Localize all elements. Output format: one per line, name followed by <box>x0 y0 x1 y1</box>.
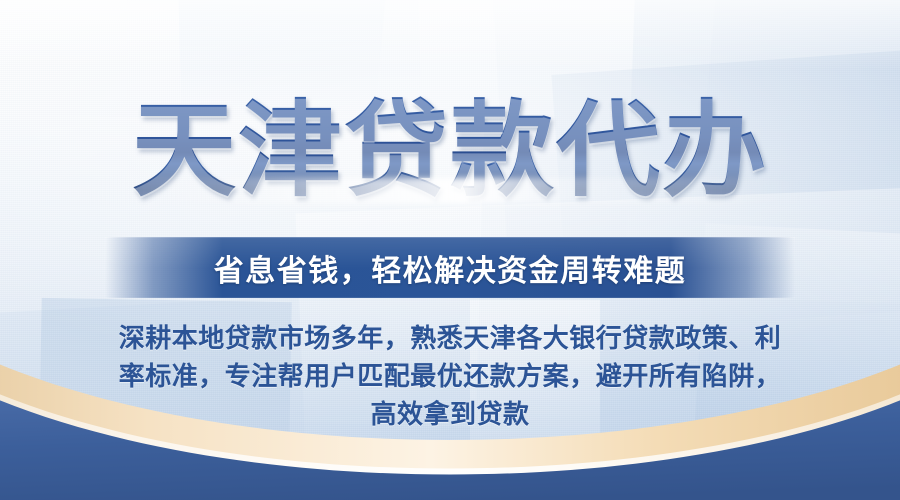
banner-description: 深耕本地贷款市场多年，熟悉天津各大银行贷款政策、利率标准，专注帮用户匹配最优还款… <box>112 320 788 434</box>
top-sheen-overlay <box>0 0 900 70</box>
subtitle-ribbon: 省息省钱，轻松解决资金周转难题 <box>105 237 795 298</box>
banner-subtitle: 省息省钱，轻松解决资金周转难题 <box>214 246 687 290</box>
headline-container: 天津贷款代办 <box>0 96 900 205</box>
promo-banner: 天津贷款代办 省息省钱，轻松解决资金周转难题 深耕本地贷款市场多年，熟悉天津各大… <box>0 0 900 500</box>
banner-title: 天津贷款代办 <box>132 96 768 205</box>
